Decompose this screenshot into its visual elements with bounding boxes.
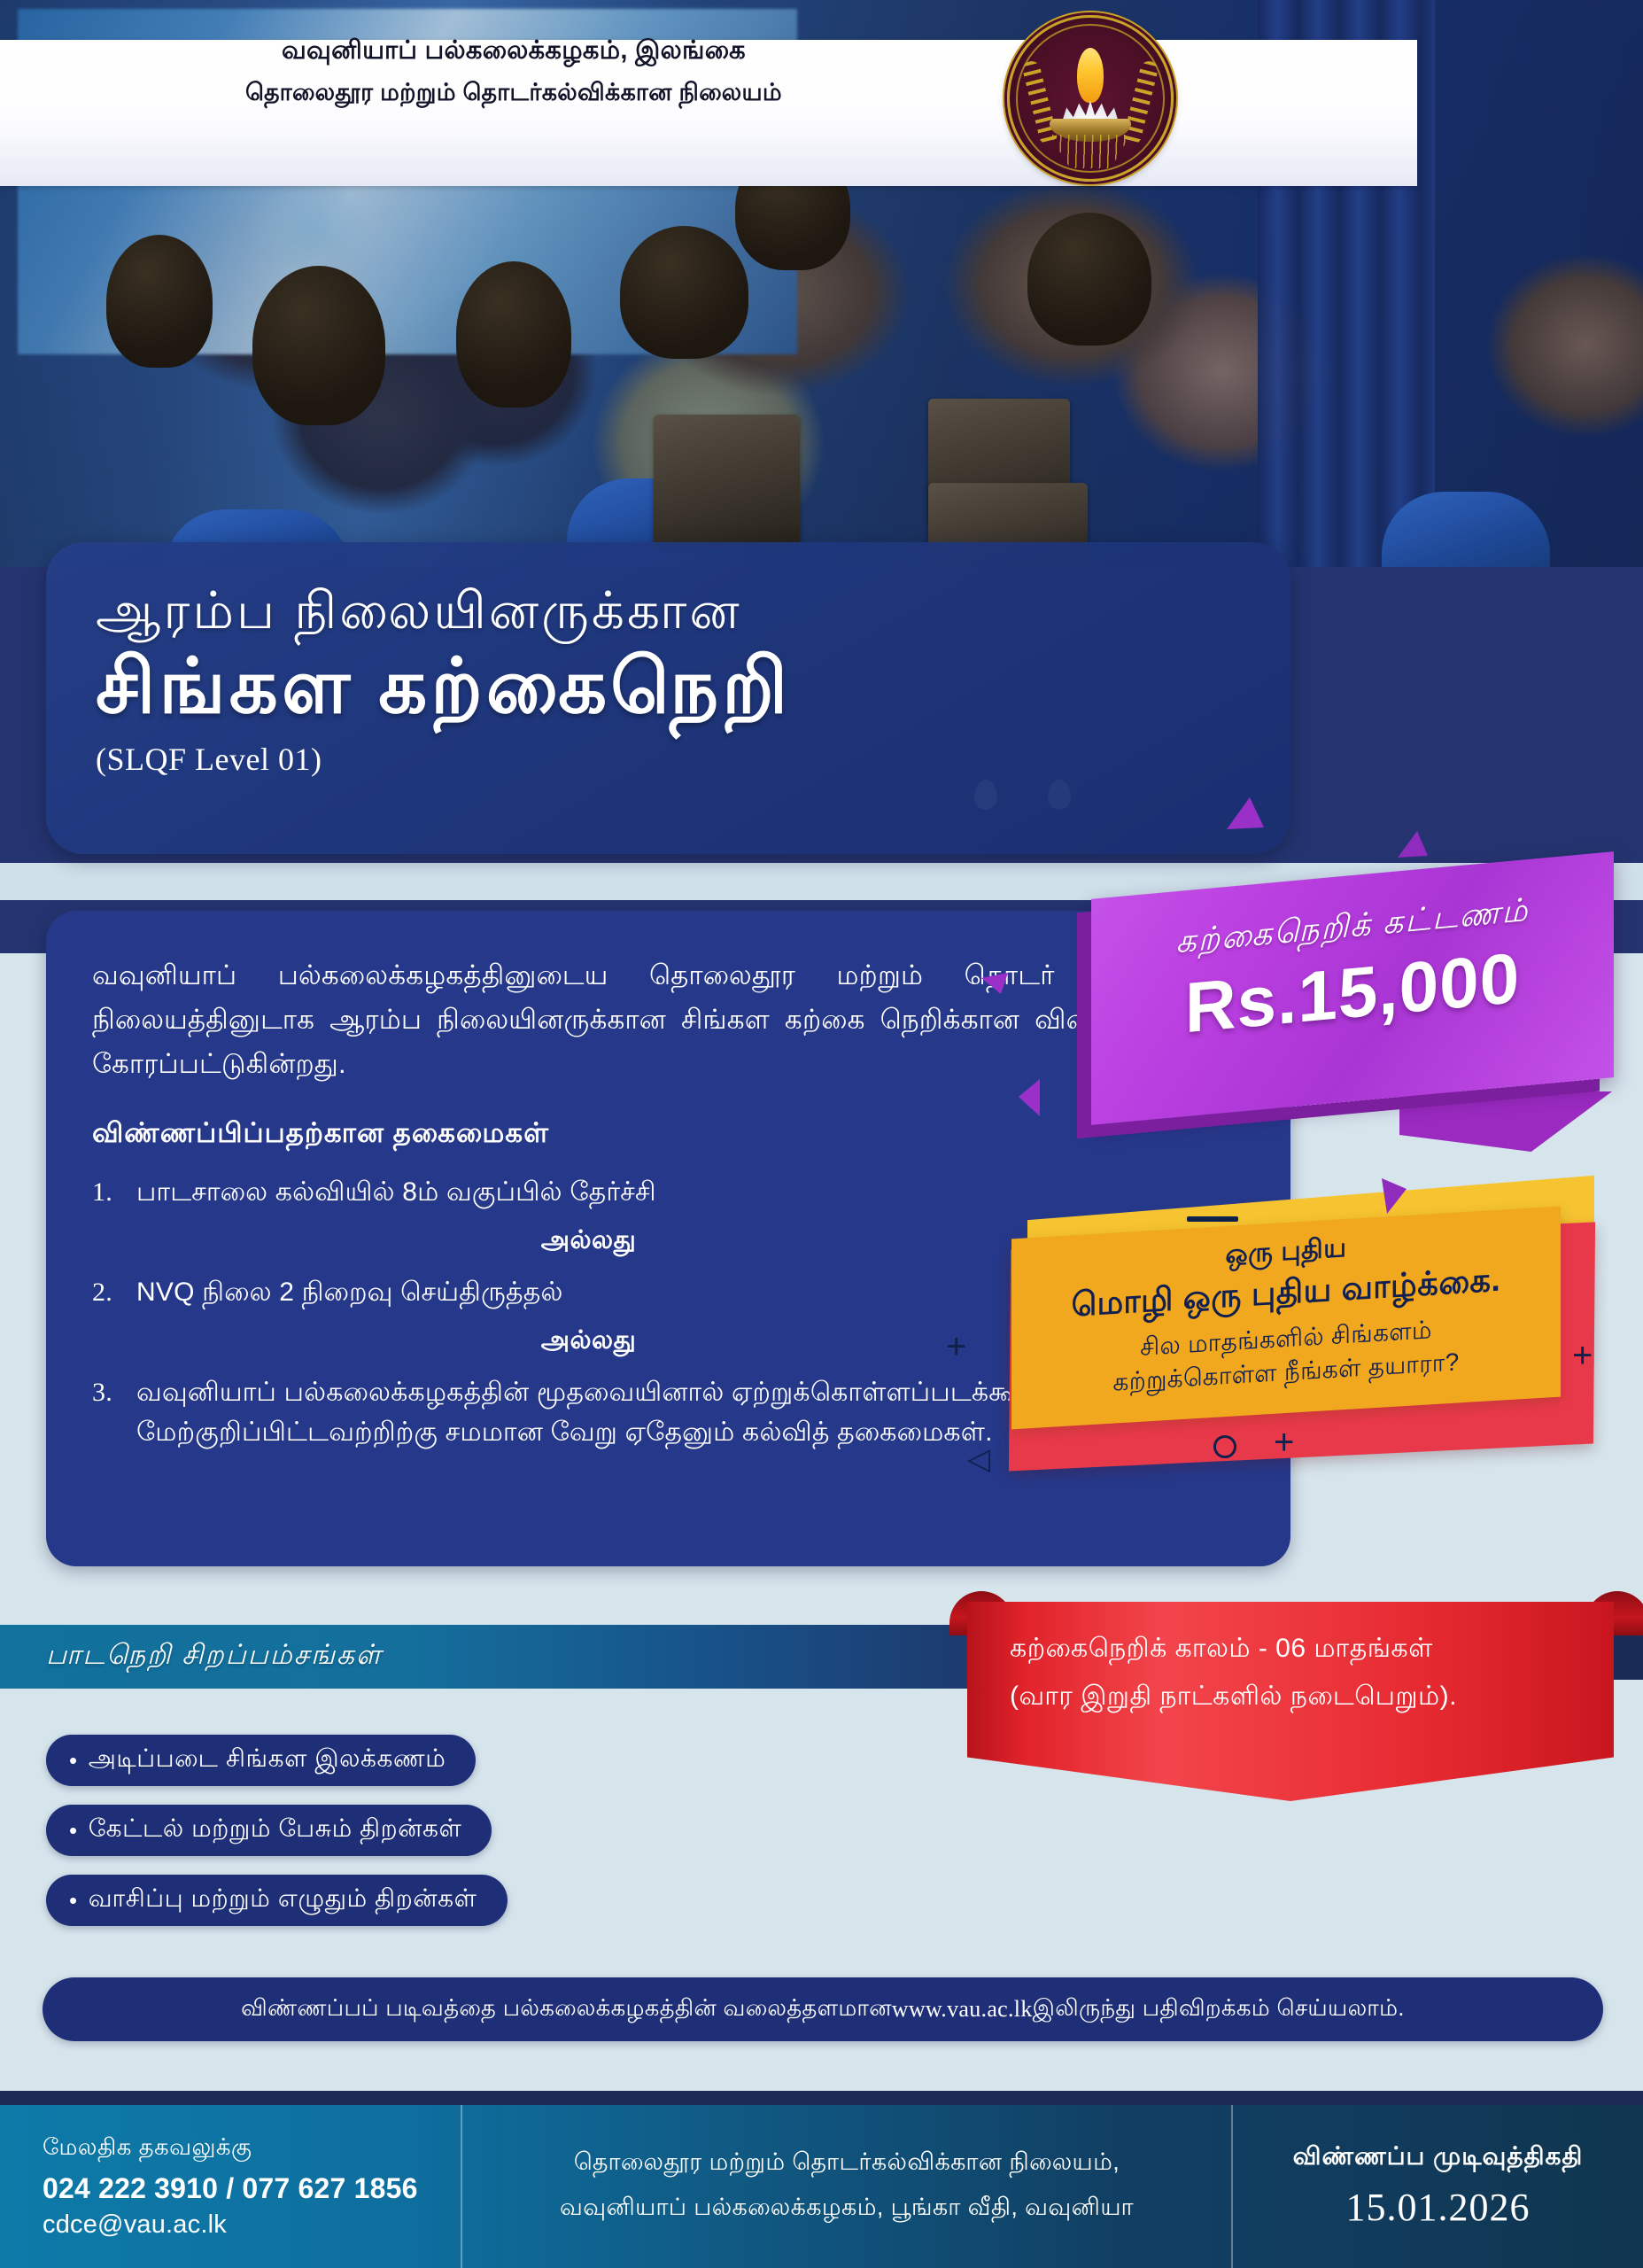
download-prefix-text: விண்ணப்பப் படிவத்தை பல்கலைக்கழகத்தின் வல… — [241, 1994, 892, 2024]
footer-address-column: தொலைதூர மற்றும் தொடர்கல்விக்கான நிலையம்,… — [461, 2104, 1231, 2268]
triangle-decor-icon — [1398, 831, 1428, 858]
person-head — [106, 235, 213, 368]
dash-decor-icon — [1187, 1216, 1238, 1222]
contact-label: மேலதிக தகவலுக்கு — [43, 2133, 434, 2163]
university-website-link[interactable]: www.vau.ac.lk — [892, 1996, 1033, 2023]
address-line-1: தொலைதூர மற்றும் தொடர்கல்விக்கான நிலையம், — [574, 2148, 1120, 2179]
university-logo-icon — [1007, 15, 1174, 182]
person-head — [252, 266, 385, 425]
highlights-heading: பாடநெறி சிறப்பம்சங்கள் — [46, 1639, 383, 1674]
arrow-decor-icon: ◁ — [967, 1444, 990, 1474]
triangle-decor-icon — [1010, 1079, 1040, 1116]
contact-email[interactable]: cdce@vau.ac.lk — [43, 2210, 434, 2240]
course-title-subline: ஆரம்ப நிலையினருக்கான — [96, 585, 1241, 639]
course-title-banner: ஆரம்ப நிலையினருக்கான சிங்கள கற்கைநெறி (S… — [46, 542, 1290, 854]
highlights-header-bar: பாடநெறி சிறப்பம்சங்கள் — [0, 1625, 974, 1689]
centre-name: தொலைதூர மற்றும் தொடர்கல்விக்கான நிலையம் — [245, 79, 782, 110]
person-head — [1027, 213, 1151, 346]
address-line-2: வவுனியாப் பல்கலைக்கழகம், பூங்கா வீதி, வவ… — [560, 2194, 1134, 2225]
lamp-flame-icon — [1077, 48, 1104, 103]
course-level-label: (SLQF Level 01) — [96, 741, 1241, 778]
duration-line-1: கற்கைநெறிக் காலம் - 06 மாதங்கள் — [1010, 1634, 1571, 1667]
list-item: 1. பாடசாலை கல்வியில் 8ம் வகுப்பில் தேர்ச… — [92, 1172, 1244, 1212]
contact-phone[interactable]: 024 222 3910 / 077 627 1856 — [43, 2172, 434, 2205]
list-item-number: 2. — [92, 1272, 124, 1312]
list-item-number: 3. — [92, 1372, 124, 1452]
course-duration-ribbon: கற்கைநெறிக் காலம் - 06 மாதங்கள் (வார இறு… — [967, 1602, 1614, 1801]
bullet-icon: • — [69, 1749, 78, 1772]
qualifications-heading: விண்ணப்பிப்பதற்கான தகைமைகள் — [92, 1117, 1244, 1153]
list-item: • அடிப்படை சிங்கள இலக்கணம் — [46, 1735, 476, 1786]
language-callout: ஒரு புதிய மொழி ஒரு புதிய வாழ்க்கை. சில ம… — [1011, 1207, 1561, 1430]
bullet-icon: • — [69, 1819, 78, 1842]
footer-bar: மேலதிக தகவலுக்கு 024 222 3910 / 077 627 … — [0, 2104, 1643, 2268]
triangle-decor-icon — [1227, 797, 1264, 829]
plus-decor-icon: + — [946, 1329, 966, 1364]
university-name: வவுனியாப் பல்கலைக்கழகம், இலங்கை — [282, 36, 746, 68]
course-fee-banner: கற்கைநெறிக் கட்டணம் Rs.15,000 — [1091, 851, 1614, 1125]
triangle-decor-icon — [981, 973, 1008, 994]
footer-deadline-column: விண்ணப்ப முடிவுத்திகதி 15.01.2026 — [1231, 2104, 1643, 2268]
person-head — [620, 226, 748, 359]
course-title-main: சிங்கள கற்கைநெறி — [96, 646, 1241, 728]
download-suffix-text: இலிருந்து பதிவிறக்கம் செய்யலாம். — [1033, 1994, 1405, 2024]
header-title-block: வவுனியாப் பல்கலைக்கழகம், இலங்கை தொலைதூர … — [0, 0, 1027, 146]
application-download-bar: விண்ணப்பப் படிவத்தை பல்கலைக்கழகத்தின் வல… — [43, 1977, 1603, 2041]
fee-banner-tail — [1399, 1091, 1612, 1152]
deadline-label: விண்ணப்ப முடிவுத்திகதி — [1293, 2142, 1584, 2174]
duration-line-2: (வார இறுதி நாட்களில் நடைபெறும்). — [1010, 1682, 1571, 1715]
list-item-number: 1. — [92, 1172, 124, 1212]
deadline-date: 15.01.2026 — [1346, 2185, 1531, 2230]
footer-top-strip — [0, 2091, 1643, 2105]
highlight-item-label: வாசிப்பு மற்றும் எழுதும் திறன்கள் — [89, 1884, 477, 1916]
highlight-item-label: அடிப்படை சிங்கள இலக்கணம் — [89, 1744, 446, 1776]
intro-paragraph: வவுனியாப் பல்கலைக்கழகத்தினுடைய தொலைதூர ம… — [92, 953, 1244, 1087]
highlight-item-label: கேட்டல் மற்றும் பேசும் திறன்கள் — [89, 1814, 462, 1846]
person-head — [456, 261, 571, 408]
triangle-decor-icon — [1382, 1178, 1408, 1214]
bullet-icon: • — [69, 1889, 78, 1912]
plus-decor-icon: + — [1274, 1425, 1294, 1460]
list-item: • கேட்டல் மற்றும் பேசும் திறன்கள் — [46, 1805, 492, 1856]
list-item-text: பாடசாலை கல்வியில் 8ம் வகுப்பில் தேர்ச்சி — [136, 1172, 1244, 1212]
footer-contact-column: மேலதிக தகவலுக்கு 024 222 3910 / 077 627 … — [0, 2104, 461, 2268]
highlights-pill-list: • அடிப்படை சிங்கள இலக்கணம் • கேட்டல் மற்… — [46, 1735, 508, 1945]
list-item: • வாசிப்பு மற்றும் எழுதும் திறன்கள் — [46, 1875, 508, 1926]
plus-decor-icon: + — [1572, 1338, 1593, 1373]
circle-decor-icon — [1213, 1435, 1236, 1458]
laptop-device — [654, 415, 800, 548]
